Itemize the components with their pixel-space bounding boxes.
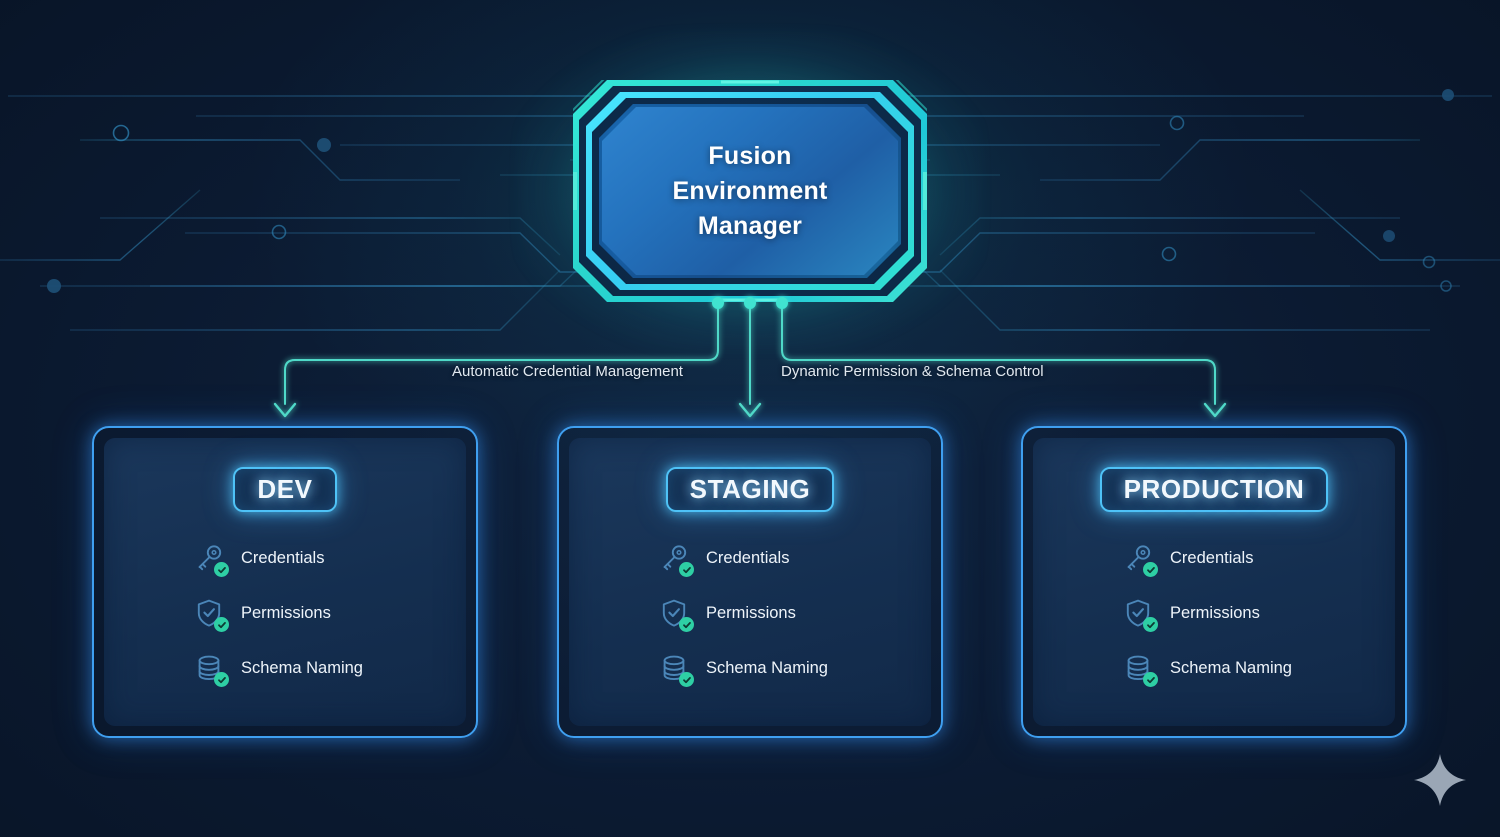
edge-label-right: Dynamic Permission & Schema Control: [781, 363, 1044, 381]
connector-dev: [285, 303, 718, 404]
arrowhead-production: [1205, 404, 1225, 416]
connector-production: [782, 303, 1215, 404]
arrowhead-dev: [275, 404, 295, 416]
diagram-canvas: Fusion Environment Manager: [0, 0, 1500, 837]
hub-port-production: [776, 297, 788, 309]
hub-port-staging: [744, 297, 756, 309]
sparkle-icon: [1412, 752, 1468, 808]
arrowhead-staging: [740, 404, 760, 416]
edge-label-left: Automatic Credential Management: [452, 363, 683, 381]
hub-port-dev: [712, 297, 724, 309]
connector-layer: [0, 0, 1500, 837]
